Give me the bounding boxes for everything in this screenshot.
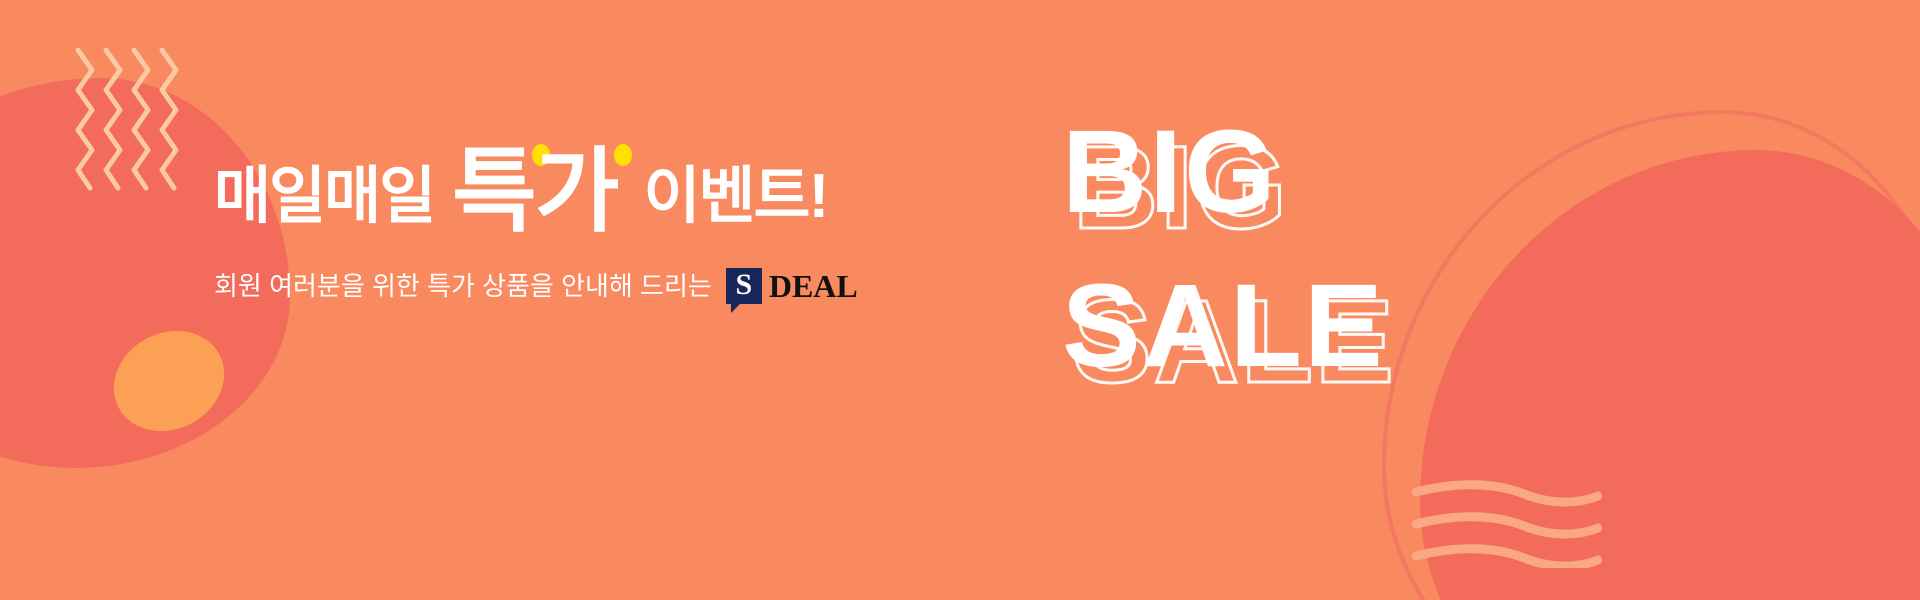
wave-lines-decoration — [1412, 478, 1602, 568]
subtitle-text: 회원 여러분을 위한 특가 상품을 안내해 드리는 — [214, 266, 712, 303]
promo-big-solid: BIG — [1062, 112, 1278, 232]
sdeal-badge-letter: S — [735, 270, 752, 300]
promo-line-big: BIG BIG — [1062, 112, 1382, 232]
sdeal-badge-icon: S — [726, 268, 762, 304]
headline-part-2: 특가 — [452, 146, 617, 238]
headline: 매일매일 특가 이벤트! — [214, 140, 974, 232]
sdeal-logo[interactable]: S DEAL — [726, 268, 858, 304]
promo-banner[interactable]: 매일매일 특가 이벤트! 회원 여러분을 위한 특가 상품을 안내해 드리는 S… — [0, 0, 1920, 600]
headline-block: 매일매일 특가 이벤트! 회원 여러분을 위한 특가 상품을 안내해 드리는 S… — [214, 140, 974, 303]
headline-part-1: 매일매일 — [214, 166, 434, 228]
promo-line-sale: SALE SALE — [1062, 266, 1382, 386]
promo-text-block: BIG BIG SALE SALE — [1062, 112, 1382, 386]
subtitle-row: 회원 여러분을 위한 특가 상품을 안내해 드리는 S DEAL — [214, 266, 974, 303]
zigzag-lines-decoration — [68, 48, 198, 198]
sdeal-wordmark: DEAL — [769, 268, 858, 304]
headline-part-3: 이벤트! — [643, 166, 827, 228]
promo-sale-solid: SALE — [1062, 266, 1385, 386]
